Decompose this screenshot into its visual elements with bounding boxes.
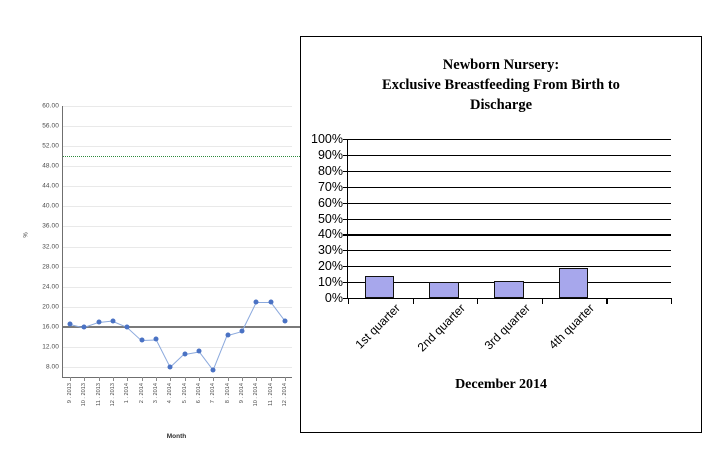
bar-chart-bar: [494, 281, 524, 298]
run-chart-gridline: [63, 126, 292, 127]
bar-chart-gridline: [348, 219, 671, 220]
bar-chart-y-tick-label: 30%: [318, 243, 343, 257]
run-chart-y-tick-label: 8.00: [46, 363, 59, 370]
run-chart-x-tick-label: 12 . 2013: [110, 383, 116, 406]
bar-chart-title: Newborn Nursery: Exclusive Breastfeeding…: [301, 55, 701, 115]
run-chart-x-tick: [113, 377, 114, 381]
run-chart-data-point: [225, 332, 230, 337]
run-chart-gridline: [63, 287, 292, 288]
bar-chart-x-tick: [671, 298, 672, 304]
run-chart-x-tick: [99, 377, 100, 381]
run-chart-x-tick-label: 9 . 2014: [239, 383, 245, 403]
bar-chart-gridline: [348, 266, 671, 267]
run-chart-x-tick: [199, 377, 200, 381]
run-chart-data-point: [96, 320, 101, 325]
run-chart-x-tick: [127, 377, 128, 381]
bar-chart-x-axis: 1st quarter2nd quarter3rd quarter4th qua…: [348, 298, 671, 378]
bar-chart-x-tick: [348, 298, 349, 304]
run-chart-gridline: [63, 186, 292, 187]
run-chart-data-point: [168, 365, 173, 370]
run-chart-x-tick: [185, 377, 186, 381]
run-chart-median-line: [63, 326, 300, 328]
bar-chart-x-tick: [542, 298, 543, 304]
run-chart-x-tick: [156, 377, 157, 381]
bar-chart-plot-area: 0%10%20%30%40%50%60%70%80%90%100%1st qua…: [347, 139, 671, 299]
run-chart-x-tick: [170, 377, 171, 381]
run-chart-data-point: [196, 349, 201, 354]
run-chart-y-tick-label: 36.00: [42, 223, 59, 230]
bar-chart-y-tick-label: 100%: [311, 132, 343, 146]
run-chart-data-point: [282, 318, 287, 323]
bar-chart-y-tick-label: 80%: [318, 164, 343, 178]
bar-chart-x-tick-label: 1st quarter: [353, 301, 403, 351]
bar-chart-y-tick-label: 60%: [318, 196, 343, 210]
run-chart-y-tick-label: 32.00: [42, 243, 59, 250]
bar-chart-gridline: [348, 139, 671, 140]
bar-chart-y-tick-label: 20%: [318, 259, 343, 273]
bar-chart-y-tick: [343, 187, 348, 188]
run-chart-x-tick-label: 8 . 2014: [225, 383, 231, 403]
run-chart-y-tick-label: 44.00: [42, 183, 59, 190]
bar-chart-y-tick-label: 50%: [318, 212, 343, 226]
bar-chart-y-tick: [343, 282, 348, 283]
run-chart-gridline: [63, 247, 292, 248]
run-chart-data-point: [111, 318, 116, 323]
run-chart-data-point: [68, 321, 73, 326]
bar-chart-y-tick: [343, 234, 348, 235]
run-chart-data-point: [239, 328, 244, 333]
run-chart-gridline: [63, 146, 292, 147]
run-chart-y-tick-label: 28.00: [42, 263, 59, 270]
run-chart-y-tick-label: 12.00: [42, 343, 59, 350]
run-chart-x-tick: [70, 377, 71, 381]
bar-chart-title-line-3: Discharge: [301, 95, 701, 115]
bar-chart-panel: Newborn Nursery: Exclusive Breastfeeding…: [300, 36, 702, 433]
run-chart-x-tick: [271, 377, 272, 381]
run-chart-x-tick-label: 10 . 2013: [81, 383, 87, 406]
run-chart-data-point: [254, 299, 259, 304]
bar-chart-y-tick-label: 40%: [318, 227, 343, 241]
bar-chart-footer-date: December 2014: [301, 377, 701, 393]
run-chart-y-tick-label: 48.00: [42, 163, 59, 170]
screenshot-canvas: % 60.0056.0052.0048.0044.0040.0036.0032.…: [0, 0, 728, 450]
run-chart-x-tick-label: 6 . 2014: [196, 383, 202, 403]
bar-chart-y-tick: [343, 266, 348, 267]
run-chart-y-tick-label: 16.00: [42, 323, 59, 330]
run-chart-line-segment: [156, 340, 171, 369]
run-chart-x-tick-label: 4 . 2014: [167, 383, 173, 403]
run-chart-gridline: [63, 367, 292, 368]
run-chart-x-tick: [285, 377, 286, 381]
run-chart-data-point: [182, 351, 187, 356]
run-chart-data-point: [139, 337, 144, 342]
bar-chart-title-line-2: Exclusive Breastfeeding From Birth to: [301, 75, 701, 95]
run-chart-gridline: [63, 307, 292, 308]
run-chart-x-tick: [228, 377, 229, 381]
run-chart: % 60.0056.0052.0048.0044.0040.0036.0032.…: [22, 96, 300, 441]
run-chart-x-tick-label: 1 . 2014: [124, 383, 130, 403]
run-chart-x-tick: [213, 377, 214, 381]
run-chart-x-tick-label: 12 . 2014: [282, 383, 288, 406]
bar-chart-bar: [559, 268, 589, 298]
run-chart-data-point: [268, 299, 273, 304]
bar-chart-y-tick: [343, 203, 348, 204]
run-chart-x-tick-label: 5 . 2014: [182, 383, 188, 403]
bar-chart-x-tick-label: 3rd quarter: [481, 301, 532, 352]
bar-chart-x-tick: [477, 298, 478, 304]
run-chart-data-point: [211, 368, 216, 373]
bar-chart-y-tick-label: 90%: [318, 148, 343, 162]
bar-chart-gridline: [348, 203, 671, 204]
bar-chart-y-tick-label: 70%: [318, 180, 343, 194]
run-chart-x-tick-label: 10 . 2014: [253, 383, 259, 406]
bar-chart-bar: [429, 282, 459, 298]
bar-chart-x-tick: [413, 298, 414, 304]
run-chart-gridline: [63, 267, 292, 268]
run-chart-line-segment: [213, 335, 228, 371]
run-chart-data-point: [125, 324, 130, 329]
run-chart-gridline: [63, 166, 292, 167]
run-chart-gridline: [63, 226, 292, 227]
bar-chart-gridline: [348, 187, 671, 188]
bar-chart-gridline: [348, 250, 671, 251]
run-chart-x-tick: [84, 377, 85, 381]
run-chart-goal-line: [63, 156, 300, 157]
bar-chart-x-tick: [606, 298, 607, 304]
bar-chart-y-tick: [343, 155, 348, 156]
bar-chart-y-tick: [343, 219, 348, 220]
run-chart-x-tick-label: 9 . 2013: [67, 383, 73, 403]
run-chart-y-tick-label: 60.00: [42, 103, 59, 110]
run-chart-y-axis-title: %: [24, 232, 30, 237]
bar-chart-x-tick-label: 2nd quarter: [415, 301, 468, 354]
bar-chart-y-tick: [343, 171, 348, 172]
bar-chart-x-tick-label: 4th quarter: [546, 301, 597, 352]
bar-chart-gridline: [348, 171, 671, 172]
run-chart-x-tick-label: 11 . 2013: [96, 383, 102, 406]
run-chart-x-axis: 9 . 201310 . 201311 . 201312 . 20131 . 2…: [63, 377, 292, 437]
run-chart-y-tick-label: 40.00: [42, 203, 59, 210]
run-chart-x-tick-label: 7 . 2014: [210, 383, 216, 403]
run-chart-x-tick: [256, 377, 257, 381]
run-chart-y-tick-label: 24.00: [42, 283, 59, 290]
bar-chart-bar: [365, 276, 395, 298]
run-chart-gridline: [63, 106, 292, 107]
run-chart-plot-area: 60.0056.0052.0048.0044.0040.0036.0032.00…: [62, 106, 292, 378]
run-chart-data-point: [154, 337, 159, 342]
run-chart-x-tick-label: 2 . 2014: [139, 383, 145, 403]
run-chart-x-tick-label: 3 . 2014: [153, 383, 159, 403]
bar-chart-y-tick: [343, 250, 348, 251]
run-chart-y-tick-label: 56.00: [42, 123, 59, 130]
run-chart-gridline: [63, 206, 292, 207]
run-chart-x-tick: [242, 377, 243, 381]
run-chart-gridline: [63, 347, 292, 348]
bar-chart-title-line-1: Newborn Nursery:: [301, 55, 701, 75]
run-chart-data-point: [82, 325, 87, 330]
bar-chart-y-tick-label: 0%: [325, 291, 343, 305]
bar-chart-y-tick: [343, 139, 348, 140]
run-chart-x-axis-title: Month: [62, 433, 291, 440]
run-chart-x-tick-label: 11 . 2014: [268, 383, 274, 406]
run-chart-y-tick-label: 52.00: [42, 143, 59, 150]
bar-chart-y-tick-label: 10%: [318, 275, 343, 289]
bar-chart-gridline: [348, 234, 671, 235]
bar-chart-gridline: [348, 155, 671, 156]
run-chart-y-tick-label: 20.00: [42, 303, 59, 310]
run-chart-x-tick: [142, 377, 143, 381]
